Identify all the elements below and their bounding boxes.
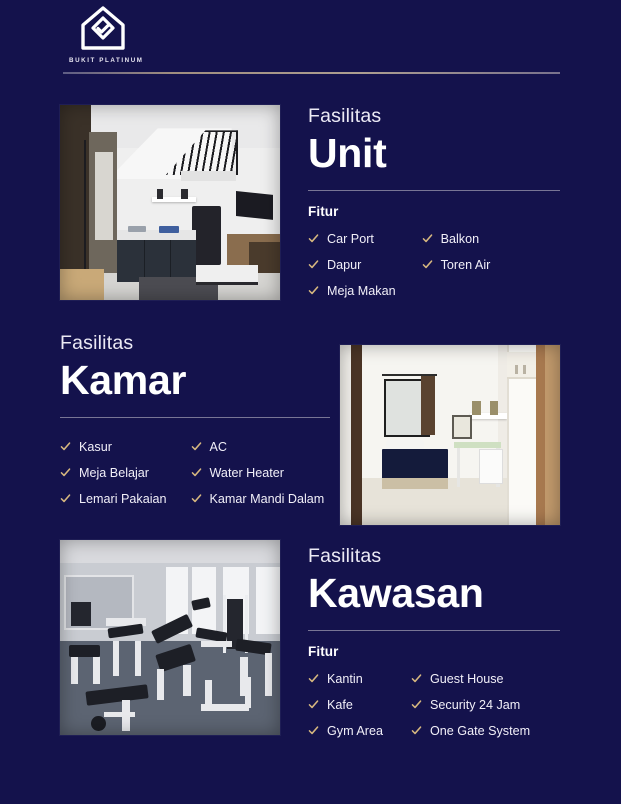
gym-photo [60,540,280,735]
unit-interior-photo [60,105,280,300]
house-logo-icon [75,4,131,52]
feature-item: Balkon [422,226,491,252]
section-divider [60,417,330,418]
feature-item: Kantin [308,666,383,692]
feature-item: Security 24 Jam [411,692,530,718]
section-unit-text: Fasilitas Unit Fitur Car Port Balkon Dap… [308,106,560,304]
feature-item: Kafe [308,692,383,718]
feature-label: One Gate System [430,718,530,744]
section-divider [308,190,560,191]
feature-label: Toren Air [441,252,491,278]
check-icon [191,493,202,504]
feature-label: Kantin [327,666,363,692]
feature-label: Dapur [327,252,361,278]
feature-item: Dapur [308,252,396,278]
feature-item: Water Heater [191,460,325,486]
feature-label: Car Port [327,226,374,252]
section-title: Kamar [60,358,330,402]
check-icon [308,259,319,270]
feature-item: Toren Air [422,252,491,278]
feature-item: Meja Belajar [60,460,167,486]
fitur-label: Fitur [308,204,560,219]
feature-label: AC [210,434,228,460]
feature-label: Security 24 Jam [430,692,520,718]
section-kamar-text: Fasilitas Kamar Kasur AC Meja Belajar Wa… [60,333,330,512]
check-icon [411,673,422,684]
feature-label: Lemari Pakaian [79,486,167,512]
bedroom-photo [340,345,560,525]
feature-item: AC [191,434,325,460]
poster-header: BUKIT PLATINUM [0,0,621,82]
check-icon [411,699,422,710]
header-divider [63,72,560,74]
check-icon [191,467,202,478]
check-icon [191,441,202,452]
feature-label: Meja Belajar [79,460,149,486]
feature-label: Water Heater [210,460,284,486]
feature-label: Meja Makan [327,278,396,304]
check-icon [60,467,71,478]
feature-item: Guest House [411,666,530,692]
section-title: Kawasan [308,571,560,615]
feature-item: Kamar Mandi Dalam [191,486,325,512]
section-title: Unit [308,131,560,175]
section-kicker: Fasilitas [308,546,560,566]
feature-label: Guest House [430,666,504,692]
check-icon [60,493,71,504]
feature-label: Balkon [441,226,480,252]
check-icon [308,725,319,736]
check-icon [422,233,433,244]
brand-logo: BUKIT PLATINUM [63,4,183,64]
check-icon [422,259,433,270]
check-icon [308,285,319,296]
section-kawasan-text: Fasilitas Kawasan Fitur Kantin Guest Hou… [308,546,560,744]
poster-page: BUKIT PLATINUM [0,0,621,804]
feature-item: Meja Makan [308,278,396,304]
check-icon [411,725,422,736]
feature-item: Gym Area [308,718,383,744]
section-kicker: Fasilitas [308,106,560,126]
check-icon [308,233,319,244]
feature-list-kamar: Kasur AC Meja Belajar Water Heater Lemar… [60,434,330,512]
feature-label: Gym Area [327,718,383,744]
feature-item: Kasur [60,434,167,460]
feature-list-kawasan: Kantin Guest House Kafe Security 24 Jam … [308,666,560,744]
fitur-label: Fitur [308,644,560,659]
feature-label: Kamar Mandi Dalam [210,486,325,512]
section-divider [308,630,560,631]
check-icon [308,699,319,710]
feature-label: Kasur [79,434,112,460]
feature-label: Kafe [327,692,353,718]
section-kicker: Fasilitas [60,333,330,353]
feature-item: Lemari Pakaian [60,486,167,512]
brand-name: BUKIT PLATINUM [69,57,183,64]
feature-item: Car Port [308,226,396,252]
feature-list-unit: Car Port Balkon Dapur Toren Air Meja Mak… [308,226,560,304]
feature-item: One Gate System [411,718,530,744]
check-icon [60,441,71,452]
check-icon [308,673,319,684]
